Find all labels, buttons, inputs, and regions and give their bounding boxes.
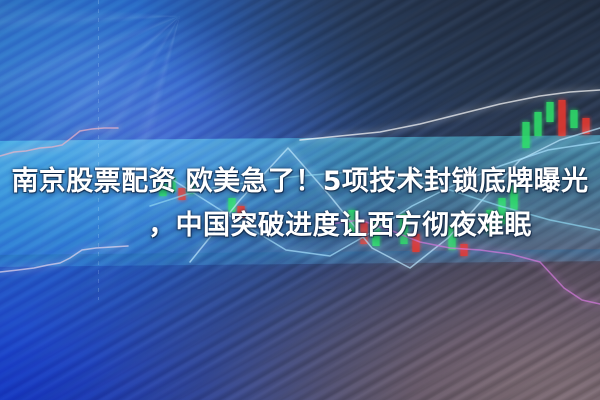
candle-body (558, 100, 565, 136)
candle-body (570, 110, 577, 128)
headline-line-2: ，中国突破进度让西方彻夜难眠 (0, 204, 600, 248)
trend-line-white-ma-line-right (300, 90, 600, 140)
candle-body (534, 112, 541, 136)
candle-body (546, 102, 553, 122)
trend-line-pink-step-line-left (0, 128, 118, 156)
headline-line-1: 南京股票配资 欧美急了！5项技术封锁底牌曝光 (0, 160, 600, 204)
candle-body (522, 122, 529, 148)
headline: 南京股票配资 欧美急了！5项技术封锁底牌曝光 ，中国突破进度让西方彻夜难眠 (0, 160, 600, 248)
stock-news-banner: 南京股票配资 欧美急了！5项技术封锁底牌曝光 ，中国突破进度让西方彻夜难眠 (0, 0, 600, 400)
trend-line-white-step-line-lower-left (0, 246, 128, 272)
